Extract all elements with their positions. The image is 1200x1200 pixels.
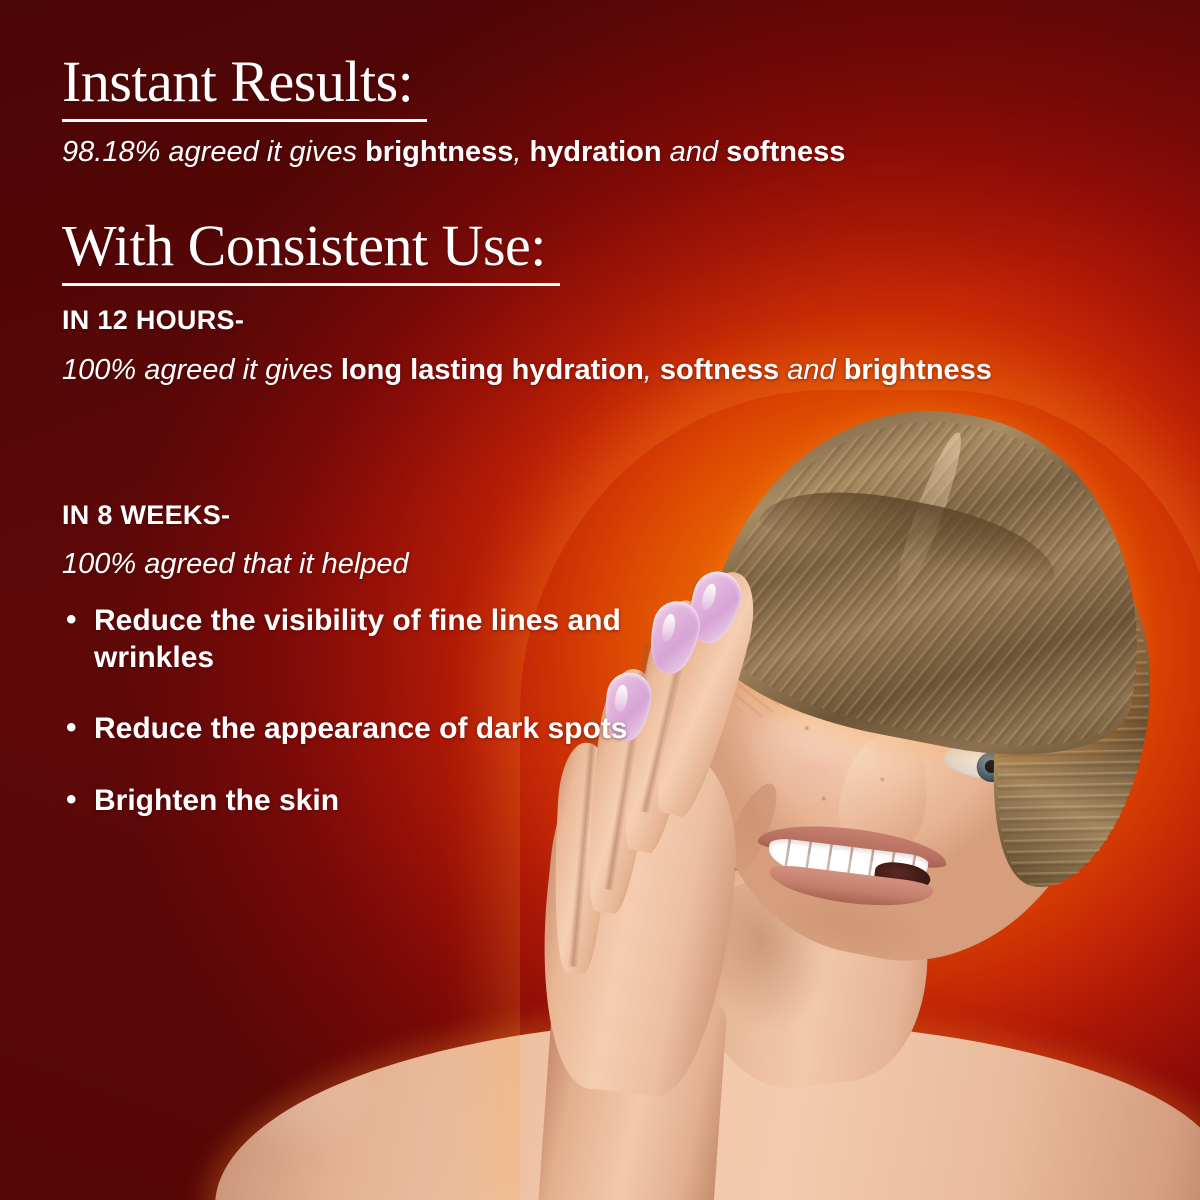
- claim-prefix: 100% agreed it gives: [62, 354, 341, 386]
- claim-benefit-2: softness: [660, 354, 779, 386]
- consistent-use-heading-text: With Consistent Use:: [62, 212, 560, 286]
- claim-benefit-3: brightness: [844, 354, 992, 386]
- claim-benefit-3: softness: [726, 136, 845, 168]
- claim-sep-2: and: [662, 136, 727, 168]
- instant-results-heading-text: Instant Results:: [62, 48, 427, 122]
- list-item: Reduce the visibility of fine lines and …: [62, 602, 632, 676]
- copy-block: Instant Results: 98.18% agreed it gives …: [0, 0, 1200, 1200]
- instant-results-heading: Instant Results:: [62, 48, 427, 122]
- consistent-use-heading: With Consistent Use:: [62, 212, 560, 286]
- claim-12-hours: 100% agreed it gives long lasting hydrat…: [62, 352, 992, 389]
- list-item: Brighten the skin: [62, 782, 632, 819]
- claim-sep-1: ,: [513, 136, 529, 168]
- claim-sep-2: and: [779, 354, 844, 386]
- benefit-list: Reduce the visibility of fine lines and …: [62, 602, 632, 853]
- kicker-12-hours: IN 12 HOURS-: [62, 305, 244, 336]
- list-item: Reduce the appearance of dark spots: [62, 710, 632, 747]
- claim-sep-1: ,: [644, 354, 660, 386]
- claim-8-weeks: 100% agreed that it helped: [62, 546, 682, 583]
- claim-benefit-1: long lasting hydration: [341, 354, 644, 386]
- promo-banner: Instant Results: 98.18% agreed it gives …: [0, 0, 1200, 1200]
- claim-benefit-2: hydration: [529, 136, 661, 168]
- instant-results-claim: 98.18% agreed it gives brightness, hydra…: [62, 134, 845, 171]
- kicker-8-weeks: IN 8 WEEKS-: [62, 500, 230, 531]
- claim-benefit-1: brightness: [365, 136, 513, 168]
- claim-prefix: 98.18% agreed it gives: [62, 136, 365, 168]
